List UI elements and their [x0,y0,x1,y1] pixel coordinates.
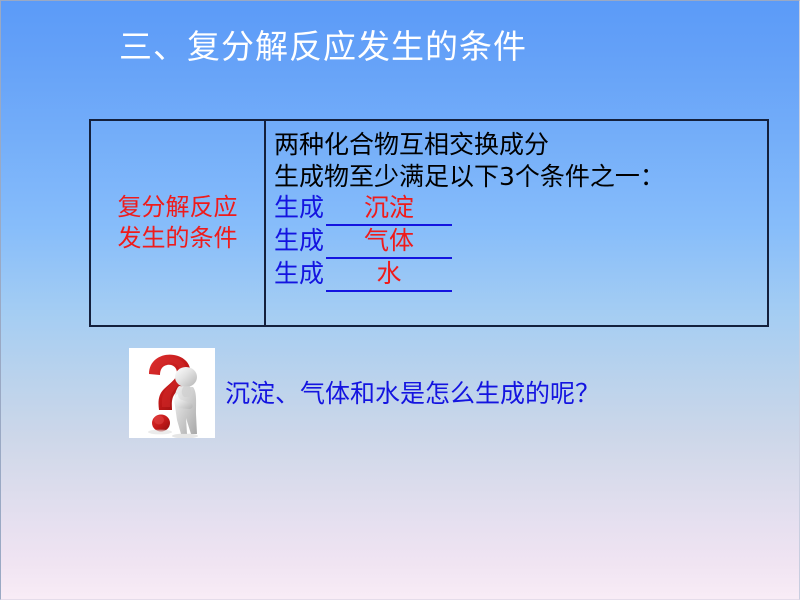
condition-statement-2: 生成物至少满足以下3个条件之一： [274,161,767,193]
fill-blank-label-2: 生成 [274,226,324,256]
table-cell-label: 复分解反应 发生的条件 [91,121,266,325]
table-row-label-line2: 发生的条件 [118,223,238,254]
fill-blank-row-2: 生成 气体 [274,226,767,259]
question-mark-icon [129,348,215,438]
page-title: 三、复分解反应发生的条件 [119,27,527,67]
table-cell-content: 两种化合物互相交换成分 生成物至少满足以下3个条件之一： 生成 沉淀 生成 气体… [266,121,767,325]
fill-blank-answer-3[interactable]: 水 [326,259,452,292]
table-row-label: 复分解反应 发生的条件 [118,192,238,254]
fill-blank-row-1: 生成 沉淀 [274,193,767,226]
slide-canvas: 三、复分解反应发生的条件 复分解反应 发生的条件 两种化合物互相交换成分 生成物… [0,0,800,600]
table-row-label-line1: 复分解反应 [118,192,238,223]
fill-blank-answer-1[interactable]: 沉淀 [326,193,452,226]
question-prompt-text: 沉淀、气体和水是怎么生成的呢？ [225,377,600,411]
fill-blank-label-3: 生成 [274,259,324,289]
fill-blank-answer-2[interactable]: 气体 [326,226,452,259]
conditions-table: 复分解反应 发生的条件 两种化合物互相交换成分 生成物至少满足以下3个条件之一：… [89,119,769,327]
fill-blank-row-3: 生成 水 [274,259,767,292]
condition-statement-1: 两种化合物互相交换成分 [274,129,767,161]
fill-blank-label-1: 生成 [274,193,324,223]
